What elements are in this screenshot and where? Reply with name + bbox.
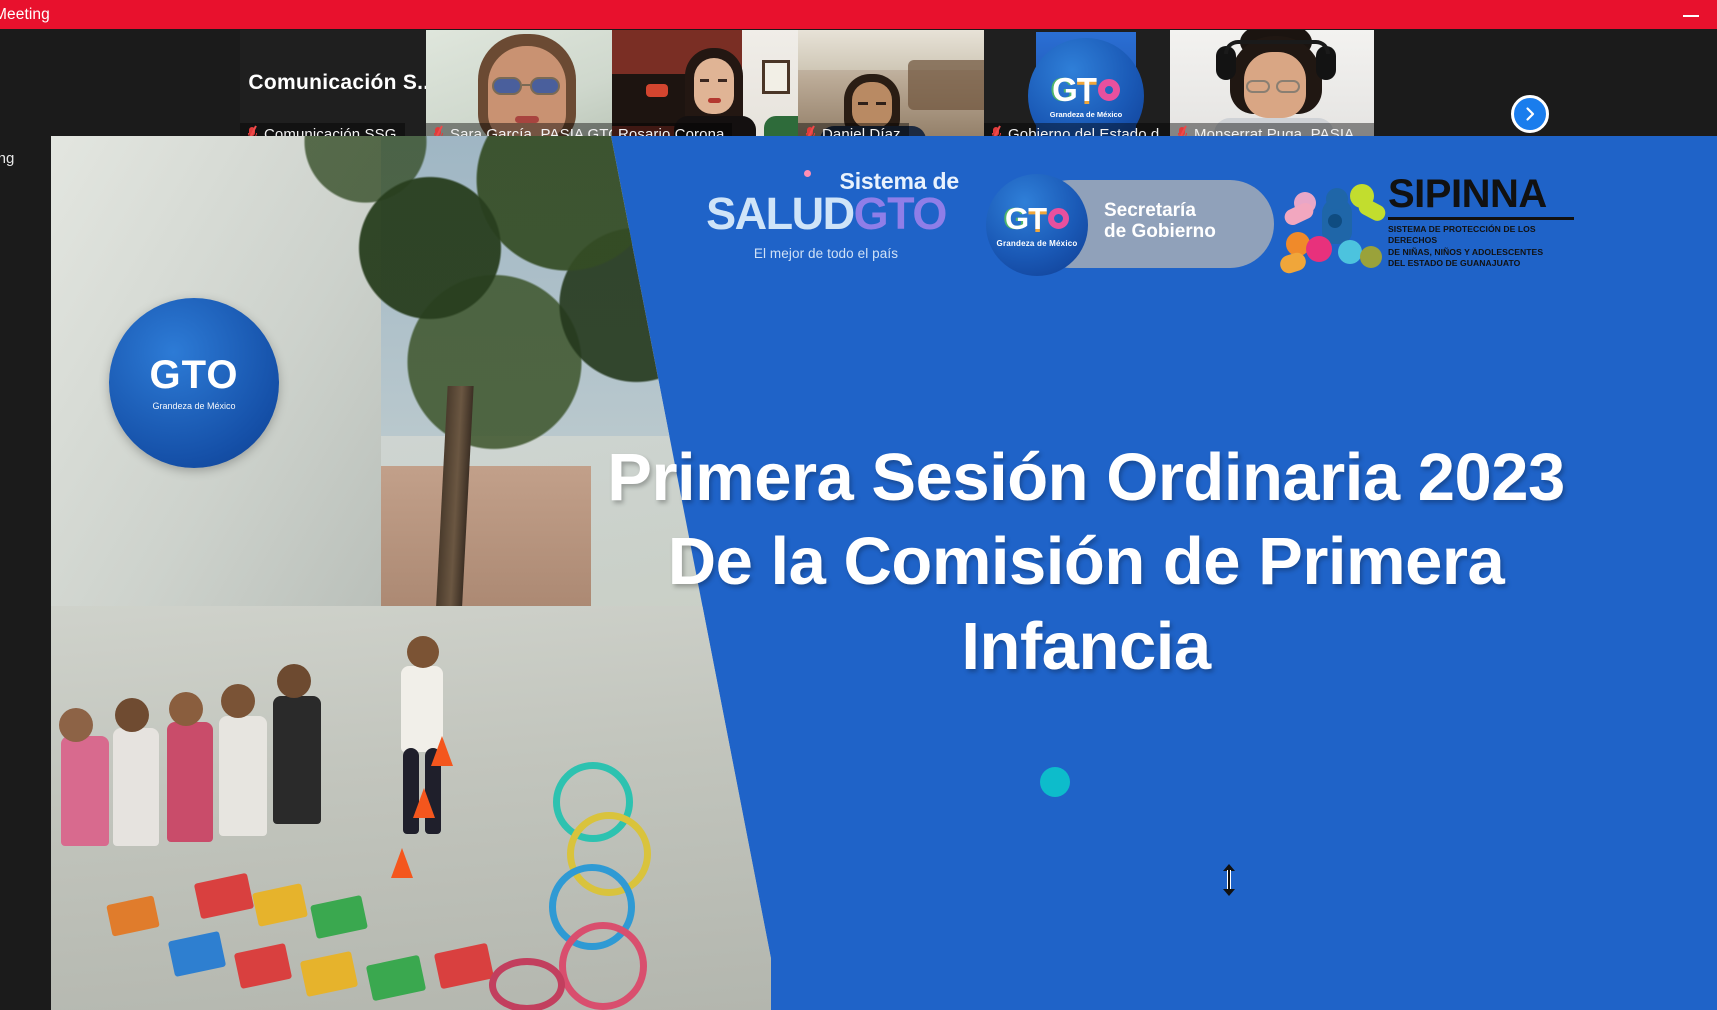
slide-accent-dot: [1040, 767, 1070, 797]
filmstrip-next-button[interactable]: [1511, 95, 1549, 133]
minimize-icon[interactable]: [1681, 6, 1703, 24]
participant-tile-sara-garcia[interactable]: Sara García, PASIA GTO: [426, 30, 630, 145]
slide-title-line-2: De la Comisión de Primera: [521, 520, 1651, 604]
shared-screen-slide: GTOGrandeza de México: [51, 136, 1717, 1010]
participant-tile-rosario-corona[interactable]: Rosario Corona: [612, 30, 816, 145]
zoom-meeting-window: Meeting Comunicación S... Comunicación S…: [0, 0, 1717, 1010]
logo-sipinna: SIPINNA SISTEMA DE PROTECCIÓN DE LOS DER…: [1276, 166, 1576, 282]
salud-logo-top: Sistema de: [691, 168, 961, 195]
participant-filmstrip: Comunicación S... Comunicación SSG: [0, 29, 1717, 146]
participant-tile-gobierno-del-estado[interactable]: GT Grandeza de México Gobierno del Estad…: [984, 30, 1188, 145]
recording-label: ding: [0, 150, 14, 167]
salud-logo-main: SALUDGTO: [691, 193, 961, 236]
slide-title-line-3: Infancia: [521, 605, 1651, 689]
sipinna-title: SIPINNA: [1388, 174, 1578, 214]
vertical-resize-cursor: [1222, 864, 1236, 896]
participant-tile-daniel-diaz[interactable]: Daniel Díaz: [798, 30, 1002, 145]
sipinna-figures-icon: [1276, 170, 1394, 278]
participant-tile-monserrat-puga[interactable]: Monserrat Puga. PASIA...: [1170, 30, 1374, 145]
sipinna-subtitle: SISTEMA DE PROTECCIÓN DE LOS DERECHOS DE…: [1388, 224, 1578, 269]
slide-logo-row: Sistema de SALUDGTO El mejor de todo el …: [681, 164, 1561, 284]
salud-logo-tagline: El mejor de todo el país: [691, 246, 961, 261]
participant-tile-comunicacion-ssg[interactable]: Comunicación S... Comunicación SSG: [240, 30, 444, 145]
salud-logo-dot: [804, 170, 811, 177]
logo-secretaria-de-gobierno: GT Grandeza de México Secretaría de Gobi…: [986, 174, 1276, 274]
sipinna-text: SIPINNA SISTEMA DE PROTECCIÓN DE LOS DER…: [1388, 174, 1578, 269]
gob-gto-letters: GT: [1005, 203, 1069, 234]
sipinna-rule: [1388, 217, 1574, 220]
gob-gto-mark: GT Grandeza de México: [986, 174, 1088, 276]
photo-gto-logo: GTOGrandeza de México: [109, 298, 279, 468]
slide-title-line-1: Primera Sesión Ordinaria 2023: [521, 436, 1651, 520]
slide-title: Primera Sesión Ordinaria 2023 De la Comi…: [521, 436, 1651, 689]
window-title-bar: Meeting: [0, 0, 1717, 29]
tile-placeholder-label: Comunicación S...: [248, 71, 435, 105]
logo-salud-gto: Sistema de SALUDGTO El mejor de todo el …: [691, 168, 961, 261]
gob-text: Secretaría de Gobierno: [1104, 200, 1216, 243]
gob-gto-subtext: Grandeza de México: [997, 239, 1078, 248]
window-title: Meeting: [0, 5, 50, 24]
chevron-right-icon: [1522, 106, 1538, 122]
